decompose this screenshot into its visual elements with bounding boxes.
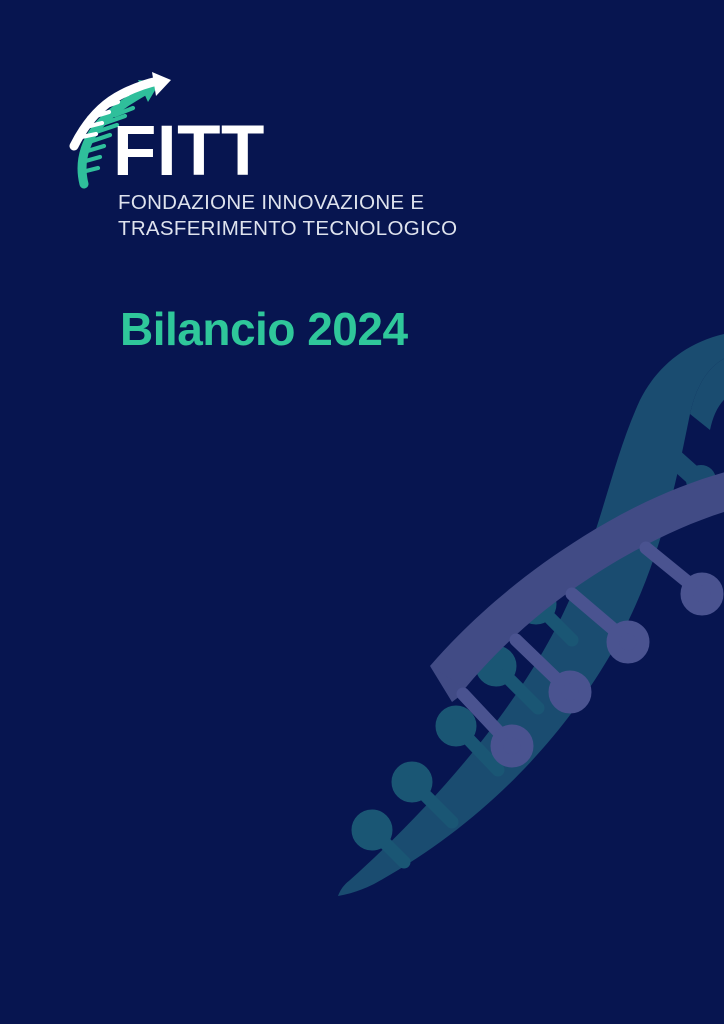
logo-row: FITT	[68, 72, 498, 190]
logo-tagline-line-2: TRASFERIMENTO TECNOLOGICO	[118, 216, 498, 242]
brand-logo: FITT FONDAZIONE INNOVAZIONE E TRASFERIME…	[68, 72, 498, 241]
cover-page: FITT FONDAZIONE INNOVAZIONE E TRASFERIME…	[0, 0, 724, 1024]
logo-tagline: FONDAZIONE INNOVAZIONE E TRASFERIMENTO T…	[68, 190, 498, 241]
page-title: Bilancio 2024	[120, 303, 408, 355]
logo-wordmark: FITT	[113, 116, 265, 187]
logo-tagline-line-1: FONDAZIONE INNOVAZIONE E	[118, 190, 498, 216]
